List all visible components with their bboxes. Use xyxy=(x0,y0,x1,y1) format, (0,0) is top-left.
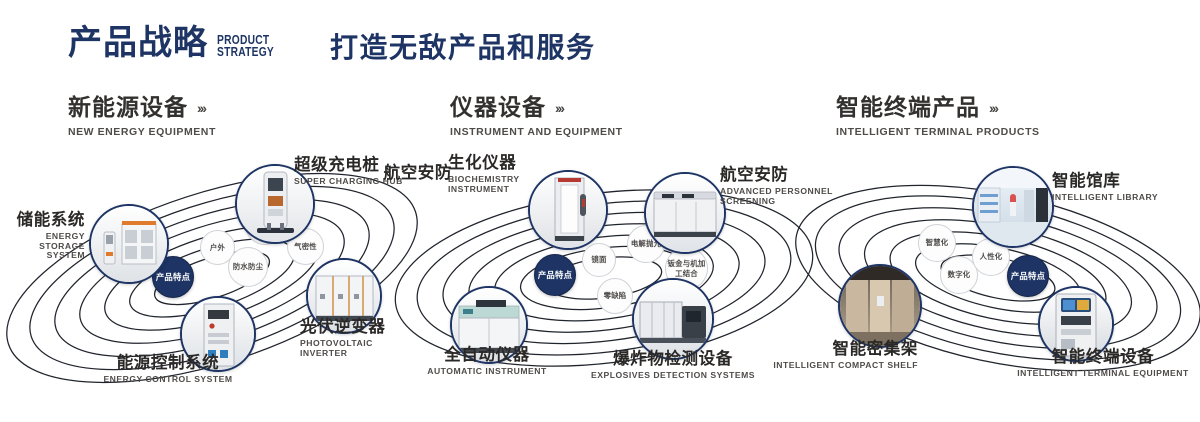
caption-en: ENERGY STORAGE SYSTEM xyxy=(0,232,85,261)
page-title-cn: 产品战略 xyxy=(68,26,208,60)
feature-bubble[interactable]: 智慧化 xyxy=(918,224,956,262)
caption-automatic-instrument: 全自动仪器 AUTOMATIC INSTRUMENT xyxy=(410,346,564,377)
cluster-instrument: 产品特点 镜面 电解抛光 钣金与机加工结合 零缺陷 生化仪器 BIOCHEMIS… xyxy=(398,150,810,422)
page-subtitle: 打造无敌产品和服务 xyxy=(330,34,596,62)
node-intelligent-library[interactable] xyxy=(972,166,1054,248)
page-title-en: PRODUCT STRATEGY xyxy=(217,35,274,58)
page-title-en-line2: STRATEGY xyxy=(217,47,274,59)
section-header-intelligent-terminal: 智能终端产品 ››› INTELLIGENT TERMINAL PRODUCTS xyxy=(836,96,1040,138)
compact-shelf-photo xyxy=(840,266,920,346)
caption-biochemistry-instrument: 生化仪器 BIOCHEMISTRY INSTRUMENT xyxy=(448,154,560,194)
infographic-canvas: 产品战略 PRODUCT STRATEGY 打造无敌产品和服务 新能源设备 ››… xyxy=(0,0,1200,422)
caption-en: AUTOMATIC INSTRUMENT xyxy=(410,367,564,377)
caption-energy-control: 能源控制系统 ENERGY CONTROL SYSTEM xyxy=(86,354,250,385)
chevrons-right-icon: ››› xyxy=(197,101,205,115)
page-title: 产品战略 PRODUCT STRATEGY xyxy=(68,26,287,60)
node-compact-shelf[interactable] xyxy=(838,264,922,348)
section-title-en: INTELLIGENT TERMINAL PRODUCTS xyxy=(836,126,1040,138)
node-energy-storage[interactable] xyxy=(89,204,169,284)
caption-en: BIOCHEMISTRY INSTRUMENT xyxy=(448,175,560,194)
caption-cn: 能源控制系统 xyxy=(86,354,250,372)
section-title-en: INSTRUMENT AND EQUIPMENT xyxy=(450,126,623,138)
caption-energy-storage: 储能系统 ENERGY STORAGE SYSTEM xyxy=(0,211,85,261)
node-advanced-personnel-screening[interactable] xyxy=(644,172,726,254)
chevrons-right-icon: ››› xyxy=(555,101,563,115)
caption-en: ENERGY CONTROL SYSTEM xyxy=(86,375,250,385)
cluster-intelligent-terminal: 智慧化 数字化 人性化 产品特点 智能馆库 xyxy=(800,150,1200,422)
screening-machine-photo xyxy=(646,174,724,252)
feature-bubble[interactable]: 零缺陷 xyxy=(597,278,633,314)
caption-cn: 生化仪器 xyxy=(448,154,560,172)
caption-cn: 智能密集架 xyxy=(708,340,918,358)
caption-en: INTELLIGENT LIBRARY xyxy=(1052,193,1184,203)
smart-library-photo xyxy=(974,168,1052,246)
caption-terminal-equipment: 智能终端设备 INTELLIGENT TERMINAL EQUIPMENT xyxy=(1006,348,1200,379)
node-explosives-detection[interactable] xyxy=(632,278,714,360)
core-bubble[interactable]: 产品特点 xyxy=(534,254,576,296)
caption-en: INTELLIGENT COMPACT SHELF xyxy=(708,361,918,371)
section-title-cn: 新能源设备 xyxy=(68,96,188,119)
caption-compact-shelf: 智能密集架 INTELLIGENT COMPACT SHELF xyxy=(708,340,918,371)
caption-aviation-security: 航空安防 xyxy=(312,164,452,182)
caption-cn: 智能终端设备 xyxy=(1006,348,1200,366)
cluster-new-energy: 产品特点 户外 防腐防锈 防水防尘 气密性 储能系统 ENERGY STORAG… xyxy=(0,150,420,422)
section-title-cn: 智能终端产品 xyxy=(836,96,980,119)
section-header-instrument: 仪器设备 ››› INSTRUMENT AND EQUIPMENT xyxy=(450,96,623,138)
caption-en: EXPLOSIVES DETECTION SYSTEMS xyxy=(588,371,758,381)
caption-cn: 航空安防 xyxy=(312,164,452,182)
caption-intelligent-library: 智能馆库 INTELLIGENT LIBRARY xyxy=(1052,172,1184,203)
feature-bubble[interactable]: 防水防尘 xyxy=(228,247,268,287)
caption-cn: 储能系统 xyxy=(0,211,85,229)
chevrons-right-icon: ››› xyxy=(989,101,997,115)
caption-en: INTELLIGENT TERMINAL EQUIPMENT xyxy=(1006,369,1200,379)
caption-cn: 智能馆库 xyxy=(1052,172,1184,190)
section-title-en: NEW ENERGY EQUIPMENT xyxy=(68,126,216,138)
battery-cabinet-photo xyxy=(91,206,167,282)
feature-bubble[interactable]: 镜面 xyxy=(582,243,616,277)
caption-cn: 全自动仪器 xyxy=(410,346,564,364)
section-title-cn: 仪器设备 xyxy=(450,96,546,119)
explosive-detector-photo xyxy=(634,280,712,358)
section-header-new-energy: 新能源设备 ››› NEW ENERGY EQUIPMENT xyxy=(68,96,216,138)
